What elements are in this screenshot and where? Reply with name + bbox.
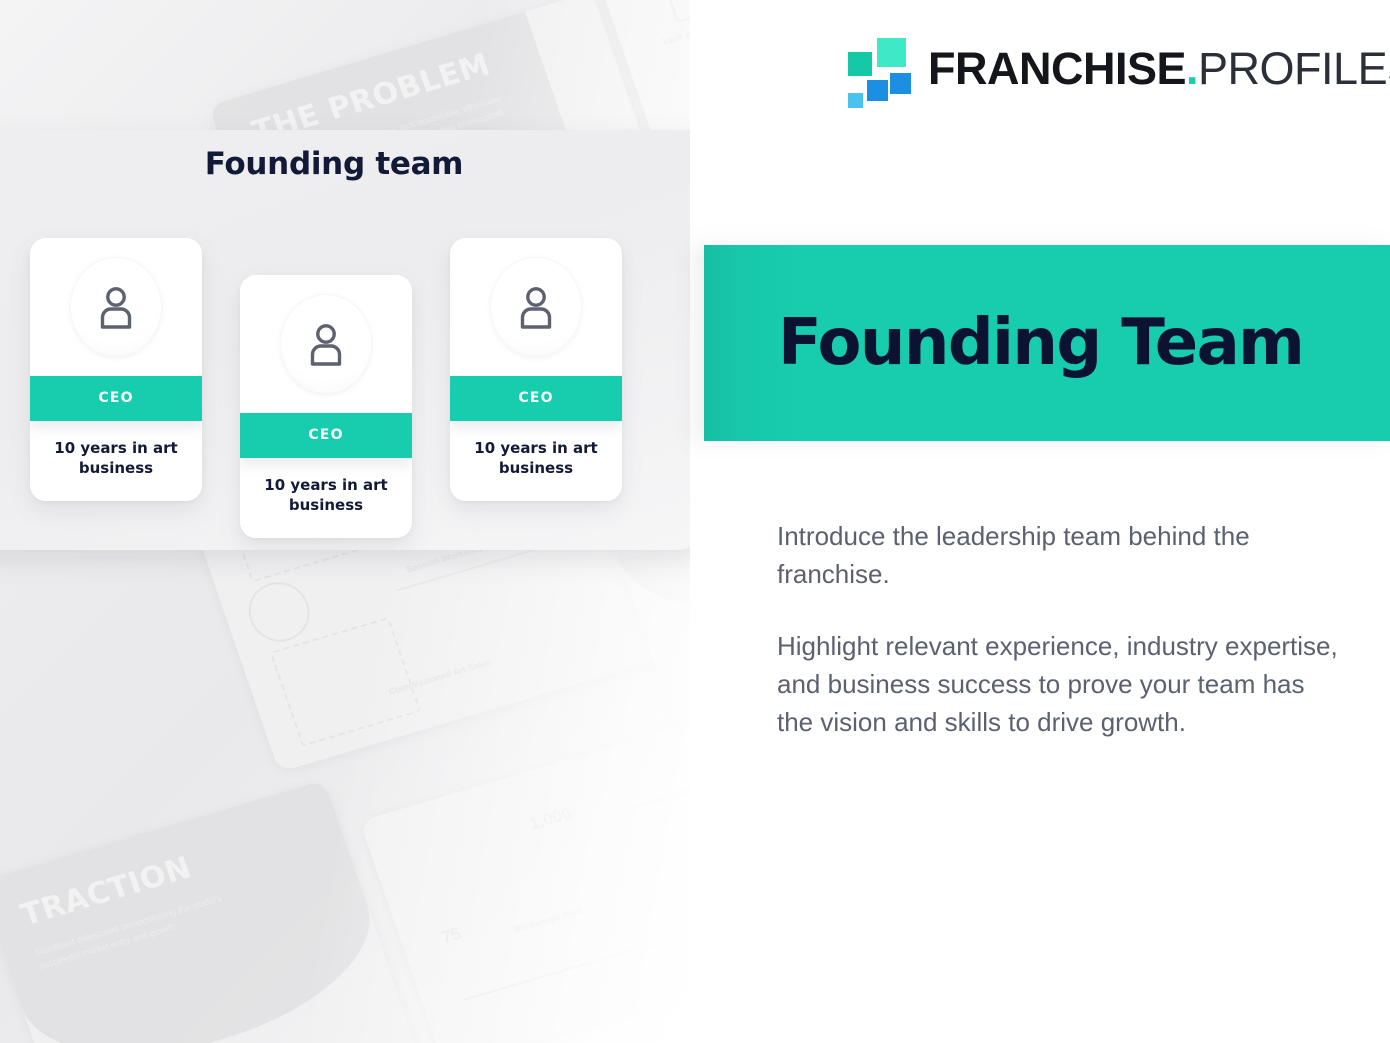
person-card[interactable]: CEO 10 years in art business bbox=[450, 238, 622, 501]
logo-word-profiles: PROFILES bbox=[1198, 43, 1390, 94]
person-description: 10 years in art business bbox=[240, 458, 412, 538]
logo-square-blue-center bbox=[867, 80, 888, 101]
slide-canvas: MARKET Increasing demand for creative sp… bbox=[0, 0, 1390, 1043]
deck-stat-label: Monthly Visitors bbox=[628, 782, 690, 813]
deck-stat-value: 75 bbox=[439, 924, 464, 948]
avatar bbox=[70, 257, 162, 357]
deck-coin-icon bbox=[241, 575, 318, 649]
copy-paragraph-2: Highlight relevant experience, industry … bbox=[777, 628, 1342, 742]
logo-word-franchise: FRANCHISE bbox=[928, 43, 1186, 94]
avatar-area bbox=[240, 275, 412, 413]
copy-paragraph-1: Introduce the leadership team behind the… bbox=[777, 518, 1342, 594]
deck-divider bbox=[463, 914, 690, 1001]
logo-mark-icon bbox=[848, 38, 906, 98]
page-title: Founding Team bbox=[778, 311, 1303, 375]
logo-square-blue-right bbox=[890, 73, 911, 94]
person-role-badge: CEO bbox=[240, 413, 412, 458]
logo-dot: . bbox=[1186, 43, 1198, 94]
deck-stat-label: Workshops Held bbox=[511, 904, 583, 936]
person-role-badge: CEO bbox=[30, 376, 202, 421]
deck-icon-lock bbox=[667, 0, 690, 23]
logo-square-sky bbox=[848, 93, 863, 108]
person-description: 10 years in art business bbox=[30, 421, 202, 501]
person-icon bbox=[94, 284, 138, 330]
person-card-list: CEO 10 years in art business CEO 10 year… bbox=[0, 238, 660, 538]
person-icon bbox=[304, 321, 348, 367]
section-title-banner: Founding Team bbox=[704, 245, 1390, 441]
avatar-area bbox=[450, 238, 622, 376]
logo-wordmark: FRANCHISE.PROFILES bbox=[928, 46, 1390, 91]
brand-logo[interactable]: FRANCHISE.PROFILES bbox=[848, 38, 1390, 98]
person-card[interactable]: CEO 10 years in art business bbox=[30, 238, 202, 501]
avatar bbox=[280, 294, 372, 394]
right-panel: FRANCHISE.PROFILES Founding Team Introdu… bbox=[690, 0, 1390, 1043]
deck-slide-traction: TRACTION Significant milestones demonstr… bbox=[0, 780, 425, 1043]
person-card[interactable]: CEO 10 years in art business bbox=[240, 275, 412, 538]
deck-stat-value: 1,000 bbox=[527, 804, 574, 835]
deck-slide-traction-stats: 1,000 Monthly Visitors 75 Workshops Held bbox=[360, 708, 690, 1043]
mock-card-heading: Founding team bbox=[184, 146, 484, 182]
logo-square-teal bbox=[848, 52, 872, 76]
avatar bbox=[490, 257, 582, 357]
section-body-copy: Introduce the leadership team behind the… bbox=[777, 518, 1342, 742]
avatar-area bbox=[30, 238, 202, 376]
founding-team-mock-card: Founding team CEO 10 years in art busine… bbox=[0, 130, 702, 550]
person-icon bbox=[514, 284, 558, 330]
logo-square-mint bbox=[877, 38, 906, 67]
person-role-badge: CEO bbox=[450, 376, 622, 421]
person-description: 10 years in art business bbox=[450, 421, 622, 501]
